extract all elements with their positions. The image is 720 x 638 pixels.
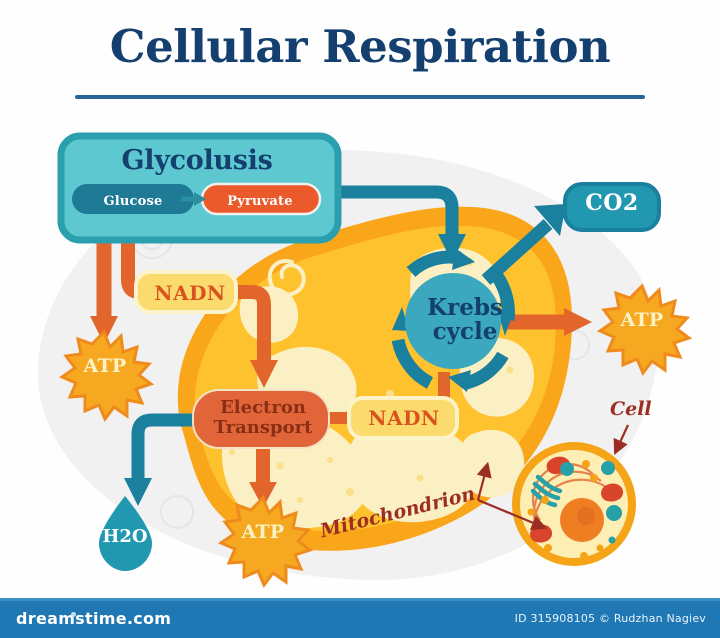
glycolysis-heading: Glycolusis	[62, 145, 332, 176]
dreamstime-logo[interactable]: dreamstime.com	[16, 609, 171, 628]
krebs-cycle-label-line2: cycle	[406, 320, 524, 344]
logo-dot-icon	[71, 612, 76, 617]
footer-bar: dreamstime.com ID 315908105 © Rudzhan Na…	[0, 598, 720, 638]
cell-leader-line	[616, 425, 628, 451]
electron-transport-label: Electron Transport	[196, 398, 330, 438]
glucose-pill-label: Glucose	[78, 194, 188, 209]
h2o-label: H2O	[91, 526, 159, 547]
electron-transport-label-line2: Transport	[196, 418, 330, 438]
illustration-canvas: Cellular Respiration	[0, 0, 720, 638]
co2-label: CO2	[570, 190, 654, 216]
electron-transport-label-line1: Electron	[196, 398, 330, 418]
atp-label-glycolysis: ATP	[64, 355, 146, 377]
arrow-glycolysis-to-atp	[90, 238, 118, 344]
atp-label-electron-transport: ATP	[222, 521, 304, 543]
nadn-label-glycolysis: NADN	[140, 281, 240, 305]
atp-label-krebs: ATP	[601, 309, 683, 331]
cell-diagram	[512, 442, 636, 566]
footer-top-rule	[0, 598, 720, 601]
nadn-label-krebs: NADN	[352, 406, 456, 430]
pyruvate-pill-label: Pyruvate	[204, 194, 316, 209]
cell-annotation: Cell	[610, 398, 652, 420]
image-credit: ID 315908105 © Rudzhan Nagiev	[515, 612, 706, 625]
krebs-cycle-label: Krebs cycle	[406, 296, 524, 344]
krebs-cycle-label-line1: Krebs	[406, 296, 524, 320]
